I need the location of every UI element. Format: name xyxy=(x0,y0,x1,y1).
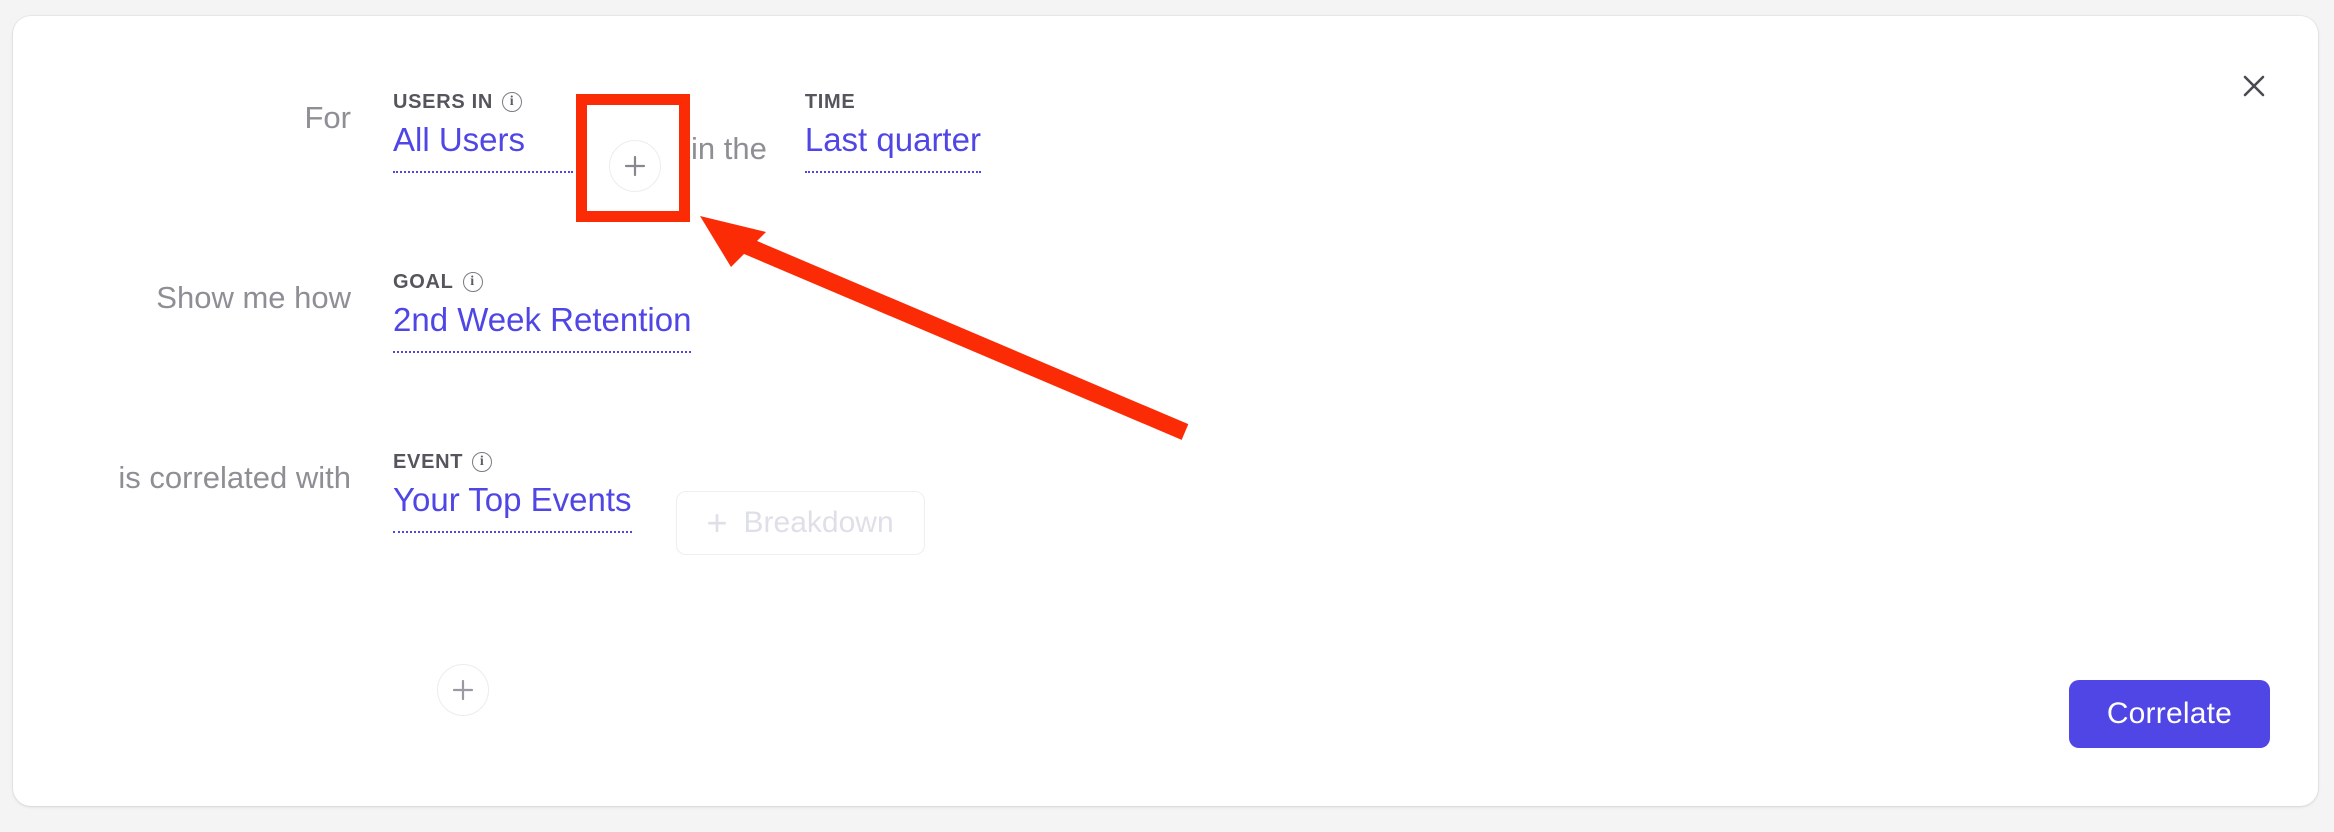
show-me-how-label: Show me how xyxy=(13,272,351,313)
event-row: is correlated with EVENT i Your Top Even… xyxy=(13,452,2318,566)
add-query-row-button[interactable] xyxy=(437,664,489,716)
time-caption: TIME xyxy=(805,92,981,112)
users-in-value[interactable]: All Users xyxy=(393,123,573,173)
goal-field: GOAL i 2nd Week Retention xyxy=(393,272,691,353)
users-time-row: For USERS IN i All Users in the TIME Las xyxy=(13,92,2318,209)
goal-caption-text: GOAL xyxy=(393,272,454,292)
query-builder-card: For USERS IN i All Users in the TIME Las xyxy=(13,16,2318,806)
info-icon[interactable]: i xyxy=(502,92,522,112)
event-value[interactable]: Your Top Events xyxy=(393,483,632,533)
plus-icon: + xyxy=(707,505,728,541)
goal-caption: GOAL i xyxy=(393,272,691,292)
event-caption: EVENT i xyxy=(393,452,632,472)
add-breakdown-button[interactable]: + Breakdown xyxy=(676,491,925,555)
info-icon[interactable]: i xyxy=(472,452,492,472)
users-in-caption-text: USERS IN xyxy=(393,92,493,112)
for-label: For xyxy=(13,92,351,133)
time-value[interactable]: Last quarter xyxy=(805,123,981,173)
users-in-field: USERS IN i All Users xyxy=(393,92,573,173)
time-field: TIME Last quarter xyxy=(805,92,981,173)
event-caption-text: EVENT xyxy=(393,452,463,472)
goal-row: Show me how GOAL i 2nd Week Retention xyxy=(13,272,2318,353)
breakdown-label: Breakdown xyxy=(744,506,894,540)
time-caption-text: TIME xyxy=(805,92,856,112)
info-icon[interactable]: i xyxy=(463,272,483,292)
correlate-button[interactable]: Correlate xyxy=(2069,680,2270,748)
add-users-filter-button[interactable] xyxy=(609,140,661,192)
in-the-label: in the xyxy=(691,133,767,164)
users-in-caption: USERS IN i xyxy=(393,92,573,112)
goal-value[interactable]: 2nd Week Retention xyxy=(393,303,691,353)
is-correlated-with-label: is correlated with xyxy=(13,452,351,493)
event-field: EVENT i Your Top Events xyxy=(393,452,632,533)
